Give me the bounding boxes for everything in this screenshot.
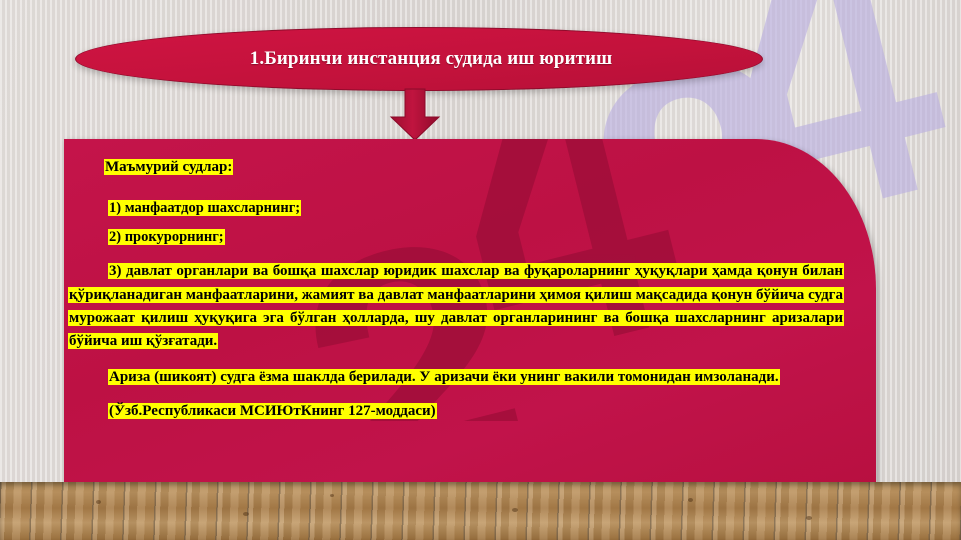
wooden-floor (0, 482, 961, 540)
list-item-1-text: 1) манфаатдор шахсларнинг; (108, 200, 301, 216)
presentation-slide: 1.Биринчи инстанция судида иш юритиш (0, 0, 961, 540)
slide-title-ellipse: 1.Биринчи инстанция судида иш юритиш (75, 27, 763, 91)
list-item-3-text: 3) давлат органлари ва бошқа шахслар юри… (68, 263, 844, 349)
page-title: 1.Биринчи инстанция судида иш юритиш (250, 48, 613, 70)
list-item-1: 1) манфаатдор шахсларнинг; (108, 198, 858, 219)
section-heading: Маъмурий судлар: (104, 157, 858, 179)
down-arrow-icon (389, 88, 441, 141)
list-item-3: 3) давлат органлари ва бошқа шахслар юри… (64, 260, 858, 354)
legal-citation: (Ўзб.Республикаси МСИЮтКнинг 127-моддаси… (108, 401, 858, 423)
legal-citation-text: (Ўзб.Республикаси МСИЮтКнинг 127-моддаси… (108, 403, 437, 419)
paragraph-application-text: Ариза (шикоят) судга ёзма шаклда берилад… (108, 369, 780, 385)
panel-content: Маъмурий судлар: 1) манфаатдор шахсларни… (64, 139, 876, 423)
content-panel: Маъмурий судлар: 1) манфаатдор шахсларни… (64, 139, 876, 487)
paragraph-application: Ариза (шикоят) судга ёзма шаклда берилад… (64, 366, 858, 389)
list-item-2: 2) прокурорнинг; (108, 227, 858, 248)
list-item-2-text: 2) прокурорнинг; (108, 229, 225, 245)
section-heading-text: Маъмурий судлар: (104, 159, 233, 175)
